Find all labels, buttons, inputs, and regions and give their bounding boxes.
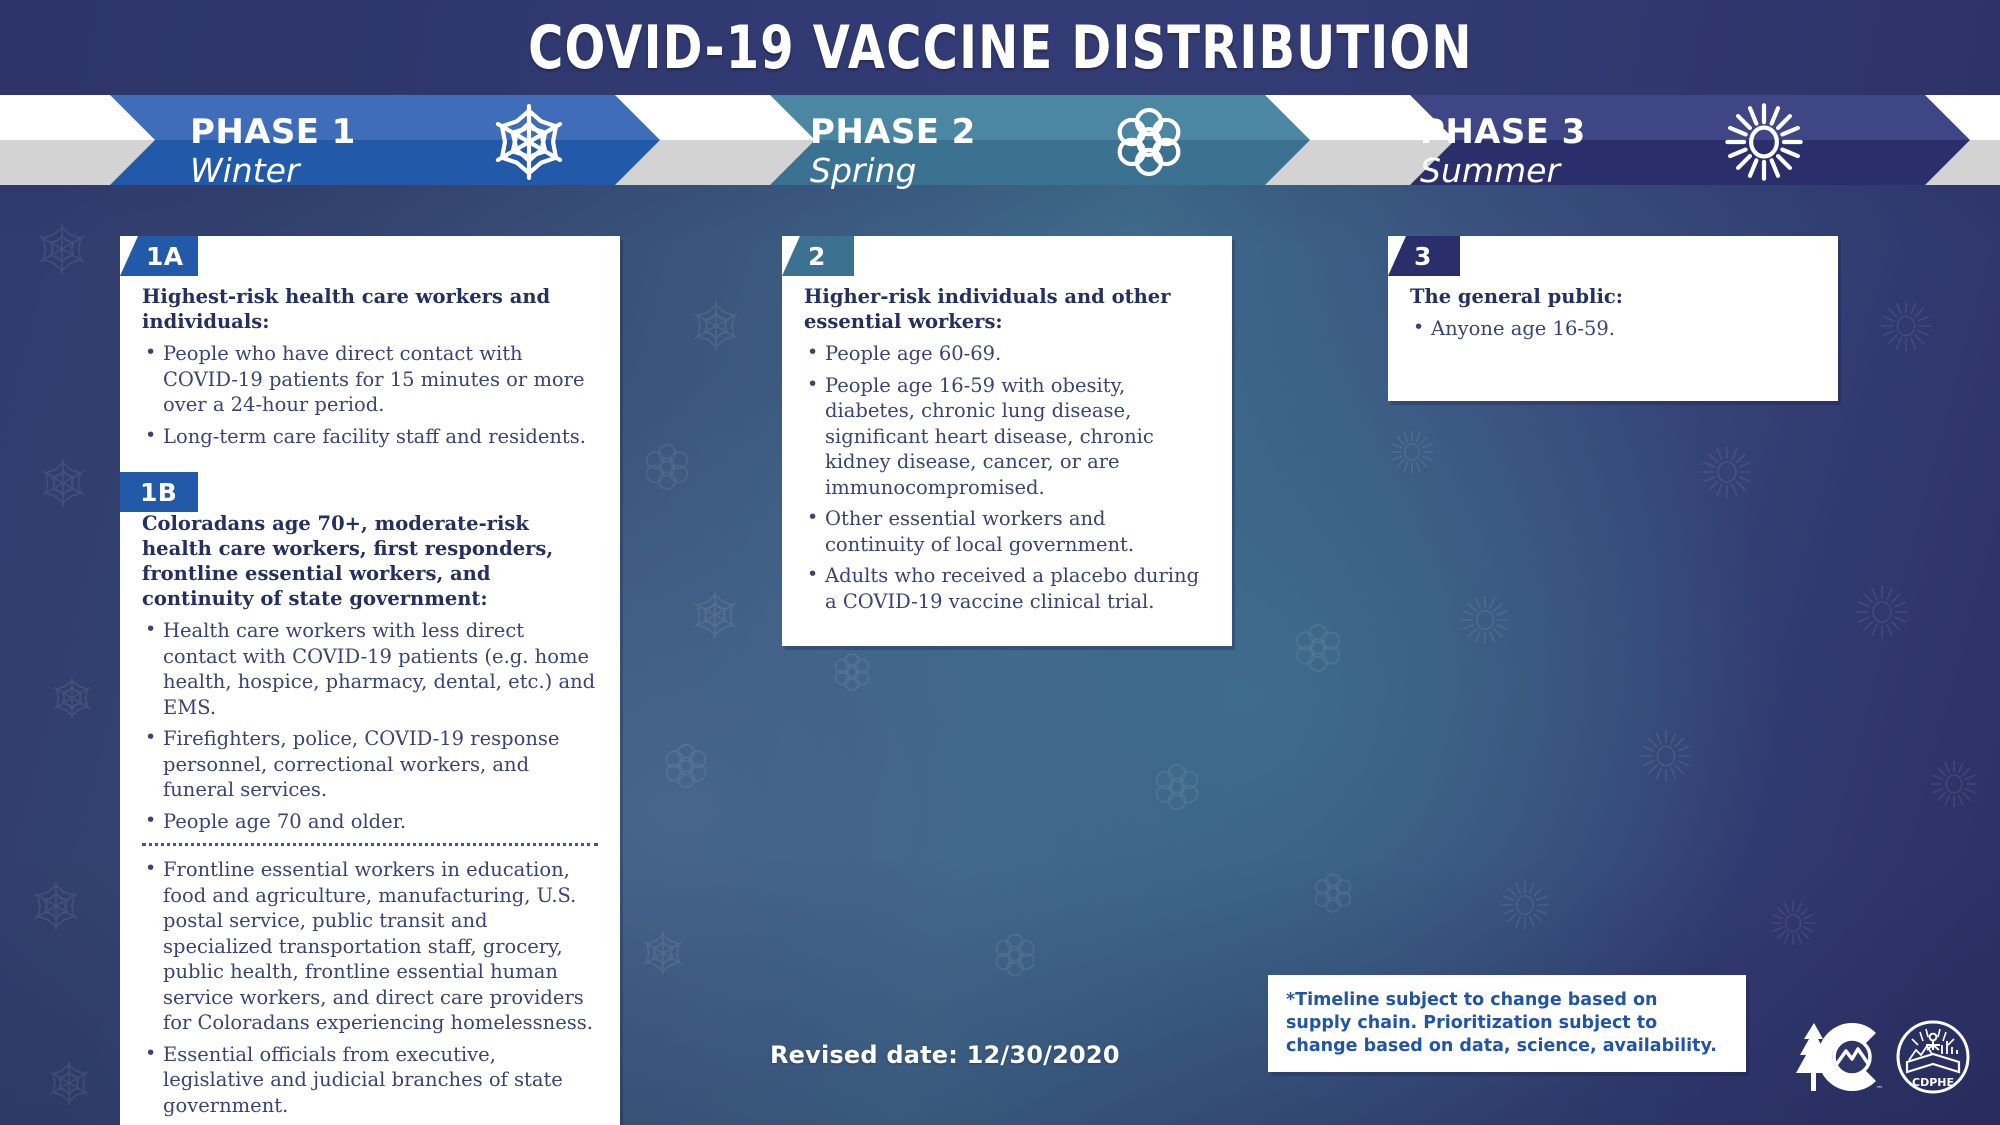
watermark-flower-icon	[1150, 760, 1204, 814]
colorado-state-logo: ™	[1790, 1021, 1882, 1098]
group-bullet-list: Anyone age 16-59.	[1410, 316, 1816, 342]
list-item: People age 60-69.	[804, 341, 1210, 367]
list-item: Other essential workers and continuity o…	[804, 506, 1210, 557]
group-heading: The general public:	[1410, 284, 1816, 309]
list-item: Frontline essential workers in education…	[142, 857, 598, 1036]
list-item: People age 70 and older.	[142, 809, 598, 835]
phase-2-label: PHASE 2 Spring	[810, 113, 976, 191]
group-bullet-list: Health care workers with less direct con…	[142, 618, 598, 834]
group-bullet-list: People who have direct contact with COVI…	[142, 341, 598, 449]
group-bullet-list-secondary: Frontline essential workers in education…	[142, 857, 598, 1125]
watermark-snowflake-icon	[50, 676, 94, 720]
phase-1-card: Highest-risk health care workers and ind…	[120, 236, 620, 1125]
list-item: Anyone age 16-59.	[1410, 316, 1816, 342]
timeline-disclaimer-note: *Timeline subject to change based on sup…	[1268, 975, 1746, 1072]
phase-3-name: PHASE 3	[1420, 113, 1586, 151]
list-item: People age 16-59 with obesity, diabetes,…	[804, 373, 1210, 501]
watermark-snowflake-icon	[46, 1060, 92, 1106]
list-item: Firefighters, police, COVID-19 response …	[142, 726, 598, 803]
watermark-sun-icon	[1855, 585, 1909, 639]
list-item: Essential officials from executive, legi…	[142, 1042, 598, 1119]
list-item: Adults who received a placebo during a C…	[804, 563, 1210, 614]
cdphe-logo-label: CDPHE	[1912, 1076, 1954, 1089]
list-item: Long-term care facility staff and reside…	[142, 424, 598, 450]
watermark-snowflake-icon	[35, 222, 89, 276]
watermark-sun-icon	[1700, 445, 1754, 499]
watermark-sun-icon	[1500, 880, 1550, 930]
sun-icon	[1725, 103, 1803, 186]
list-item: People who have direct contact with COVI…	[142, 341, 598, 418]
phase-1-season: Winter	[190, 151, 356, 191]
snowflake-icon	[490, 103, 568, 186]
watermark-flower-icon	[640, 440, 694, 494]
watermark-flower-icon	[660, 740, 712, 792]
watermark-flower-icon	[1290, 620, 1346, 676]
watermark-snowflake-icon	[38, 458, 88, 508]
watermark-sun-icon	[1460, 595, 1510, 645]
phase-1-group-1B-body: Coloradans age 70+, moderate-risk health…	[120, 511, 620, 1125]
phase-2-card: Higher-risk individuals and other essent…	[782, 236, 1232, 646]
revised-date: Revised date: 12/30/2020	[770, 1041, 1120, 1069]
watermark-flower-icon	[990, 930, 1040, 980]
phase-2-group-body: Higher-risk individuals and other essent…	[782, 284, 1232, 614]
page-title: COVID-19 VACCINE DISTRIBUTION	[528, 13, 1473, 83]
watermark-sun-icon	[1930, 760, 1978, 808]
watermark-snowflake-icon	[690, 300, 742, 352]
cdphe-logo: CDPHE	[1896, 1020, 1970, 1099]
phase-1-name: PHASE 1	[190, 113, 356, 151]
group-divider	[142, 843, 598, 846]
watermark-sun-icon	[1640, 730, 1692, 782]
watermark-snowflake-icon	[640, 930, 686, 976]
svg-text:™: ™	[1876, 1085, 1882, 1093]
watermark-sun-icon	[1390, 430, 1434, 474]
watermark-flower-icon	[1310, 870, 1356, 916]
phase-3-group-body: The general public: Anyone age 16-59.	[1388, 284, 1838, 342]
watermark-snowflake-icon	[30, 880, 82, 932]
phase-3-label: PHASE 3 Summer	[1420, 113, 1586, 191]
flower-icon	[1110, 103, 1188, 186]
group-heading: Highest-risk health care workers and ind…	[142, 284, 598, 334]
watermark-flower-icon	[830, 650, 874, 694]
phase-2-season: Spring	[810, 151, 976, 191]
phase-3-season: Summer	[1420, 151, 1586, 191]
phase-2-name: PHASE 2	[810, 113, 976, 151]
group-heading: Higher-risk individuals and other essent…	[804, 284, 1210, 334]
timeline-disclaimer-text: *Timeline subject to change based on sup…	[1286, 989, 1728, 1058]
group-bullet-list: People age 60-69.People age 16-59 with o…	[804, 341, 1210, 614]
watermark-snowflake-icon	[690, 590, 740, 640]
logo-group: ™ CDPHE	[1790, 1020, 1970, 1099]
group-heading: Coloradans age 70+, moderate-risk health…	[142, 511, 598, 611]
phase-1-label: PHASE 1 Winter	[190, 113, 356, 191]
watermark-sun-icon	[1770, 900, 1816, 946]
title-bar: COVID-19 VACCINE DISTRIBUTION	[0, 0, 2000, 95]
list-item: Health care workers with less direct con…	[142, 618, 598, 720]
phase-1-group-tag-1B: 1B	[120, 472, 198, 512]
phase-1-group-1A-body: Highest-risk health care workers and ind…	[120, 284, 620, 449]
watermark-sun-icon	[1880, 300, 1932, 352]
